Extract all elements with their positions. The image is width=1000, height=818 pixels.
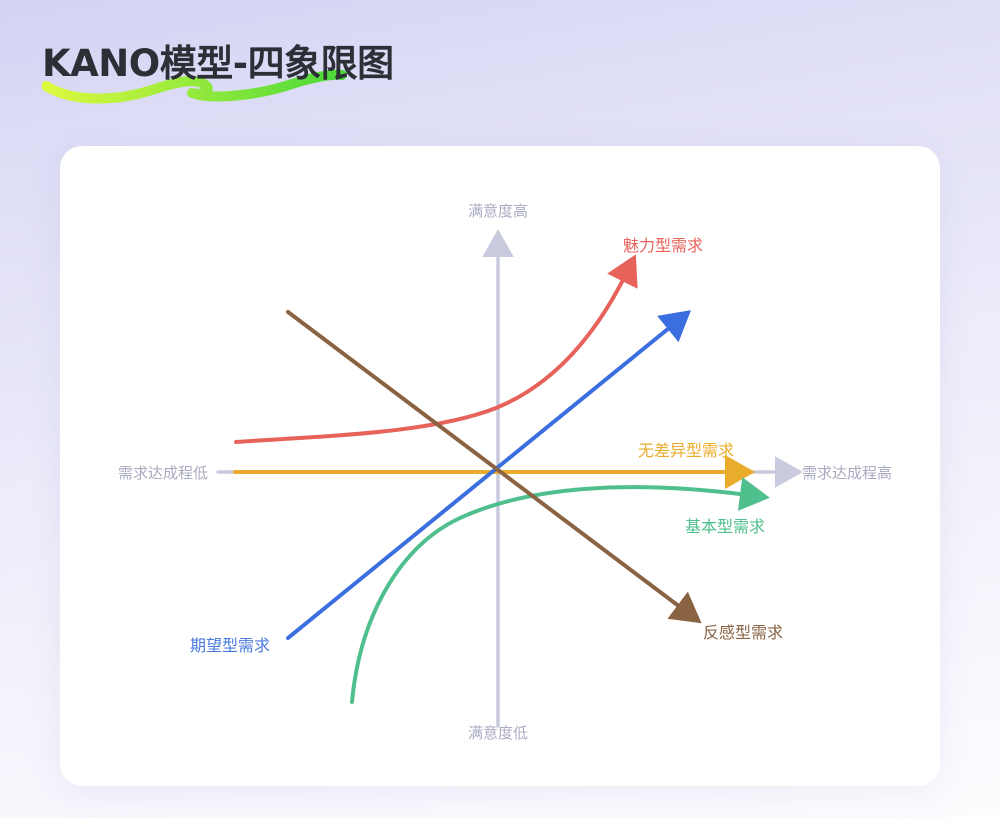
- page-title: KANO模型-四象限图: [42, 40, 394, 88]
- axis-label-fulfillment-high: 需求达成程高: [802, 464, 892, 482]
- axis-label-satisfaction-low: 满意度低: [468, 724, 528, 742]
- series-label-performance: 期望型需求: [190, 636, 270, 655]
- kano-chart: 满意度高 满意度低 需求达成程低 需求达成程高 魅力型需求 无差异型需求 基本型…: [60, 146, 940, 786]
- kano-diagram-page: KANO模型-四象限图: [0, 0, 1000, 818]
- axis-label-satisfaction-high: 满意度高: [468, 202, 528, 220]
- series-line-performance: [288, 324, 674, 638]
- title-block: KANO模型-四象限图: [42, 40, 562, 102]
- chart-card: 满意度高 满意度低 需求达成程低 需求达成程高 魅力型需求 无差异型需求 基本型…: [60, 146, 940, 786]
- series-label-must-be: 基本型需求: [685, 517, 765, 536]
- axis-label-fulfillment-low: 需求达成程低: [118, 464, 208, 482]
- series-label-indifferent: 无差异型需求: [638, 441, 734, 460]
- series-line-reverse: [288, 312, 684, 610]
- series-line-attractive: [236, 274, 626, 442]
- series-label-attractive: 魅力型需求: [623, 236, 703, 255]
- series-label-reverse: 反感型需求: [703, 623, 783, 642]
